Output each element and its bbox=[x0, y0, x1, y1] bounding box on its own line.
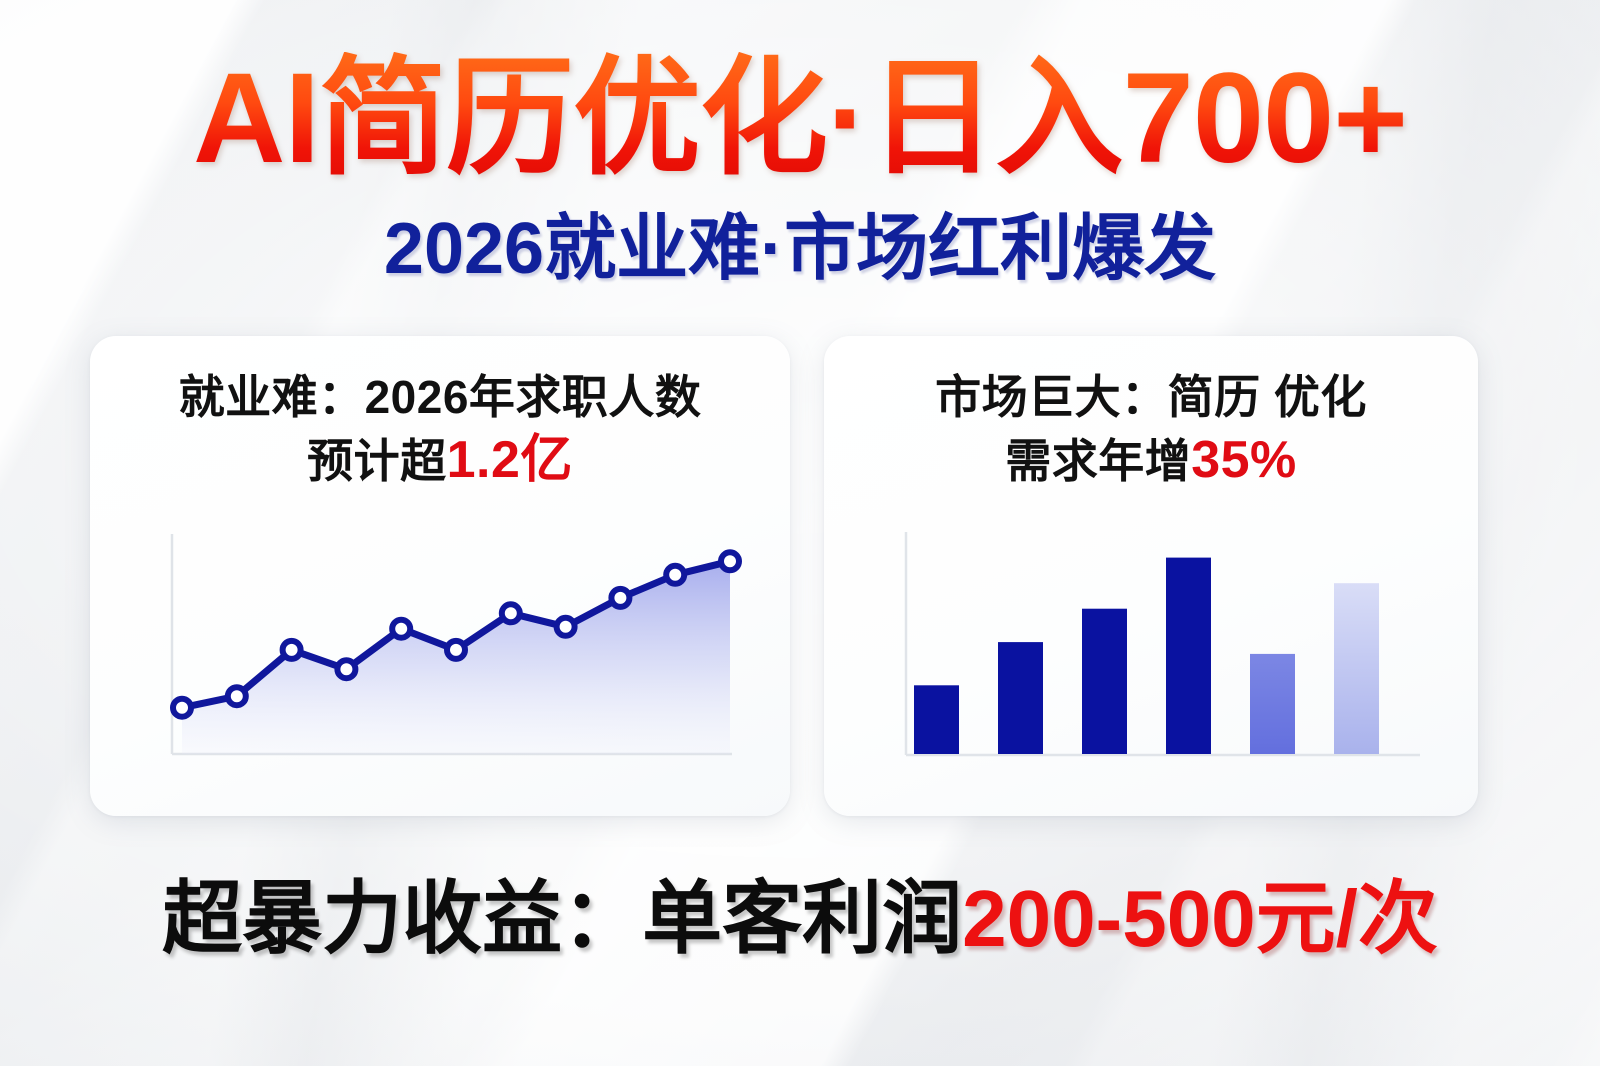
card-market: 市场巨大：简历 优化 需求年增35% bbox=[824, 336, 1478, 816]
card-market-caption: 市场巨大：简历 优化 需求年增35% bbox=[824, 368, 1478, 493]
bar-6 bbox=[1334, 583, 1379, 754]
bar-5 bbox=[1250, 654, 1295, 754]
promo-poster: AI简历优化·日入700+ 2026就业难·市场红利爆发 就业难：2026年求职… bbox=[0, 0, 1600, 1066]
line-chart-point-4 bbox=[337, 660, 355, 678]
line-chart-point-1 bbox=[173, 699, 191, 717]
page-title: AI简历优化·日入700+ bbox=[0, 52, 1600, 186]
line-chart-point-6 bbox=[447, 641, 465, 659]
line-chart-point-2 bbox=[228, 687, 246, 705]
line-chart-point-3 bbox=[283, 641, 301, 659]
line-chart-point-11 bbox=[721, 552, 739, 570]
bar-2 bbox=[998, 642, 1043, 754]
line-chart-svg bbox=[90, 516, 790, 816]
card-employment-highlight: 1.2亿 bbox=[447, 431, 573, 489]
line-chart-job-seekers bbox=[90, 516, 790, 816]
card-employment: 就业难：2026年求职人数 预计超1.2亿 bbox=[90, 336, 790, 816]
card-employment-caption-line2: 预计超 bbox=[307, 435, 447, 487]
bar-chart-resume-demand bbox=[824, 516, 1478, 816]
bar-chart-svg bbox=[824, 516, 1478, 816]
line-chart-point-9 bbox=[611, 589, 629, 607]
line-chart-point-8 bbox=[557, 618, 575, 636]
footer-label: 超暴力收益：单客利润 bbox=[162, 874, 962, 963]
footer-amount: 200-500元/次 bbox=[962, 874, 1438, 963]
footer-banner: 超暴力收益：单客利润200-500元/次 bbox=[0, 875, 1600, 963]
card-market-caption-line1: 市场巨大：简历 优化 bbox=[935, 371, 1367, 423]
card-market-highlight: 35% bbox=[1191, 431, 1297, 489]
line-chart-point-5 bbox=[392, 620, 410, 638]
card-employment-caption-line1: 就业难：2026年求职人数 bbox=[179, 371, 702, 423]
page-subtitle: 2026就业难·市场红利爆发 bbox=[0, 210, 1600, 289]
line-chart-point-10 bbox=[666, 566, 684, 584]
bar-4 bbox=[1166, 558, 1211, 754]
bar-chart-bars bbox=[914, 558, 1379, 754]
card-market-caption-line2: 需求年增 bbox=[1005, 435, 1191, 487]
bar-3 bbox=[1082, 609, 1127, 754]
bar-1 bbox=[914, 685, 959, 754]
card-employment-caption: 就业难：2026年求职人数 预计超1.2亿 bbox=[90, 368, 790, 493]
line-chart-point-7 bbox=[502, 604, 520, 622]
